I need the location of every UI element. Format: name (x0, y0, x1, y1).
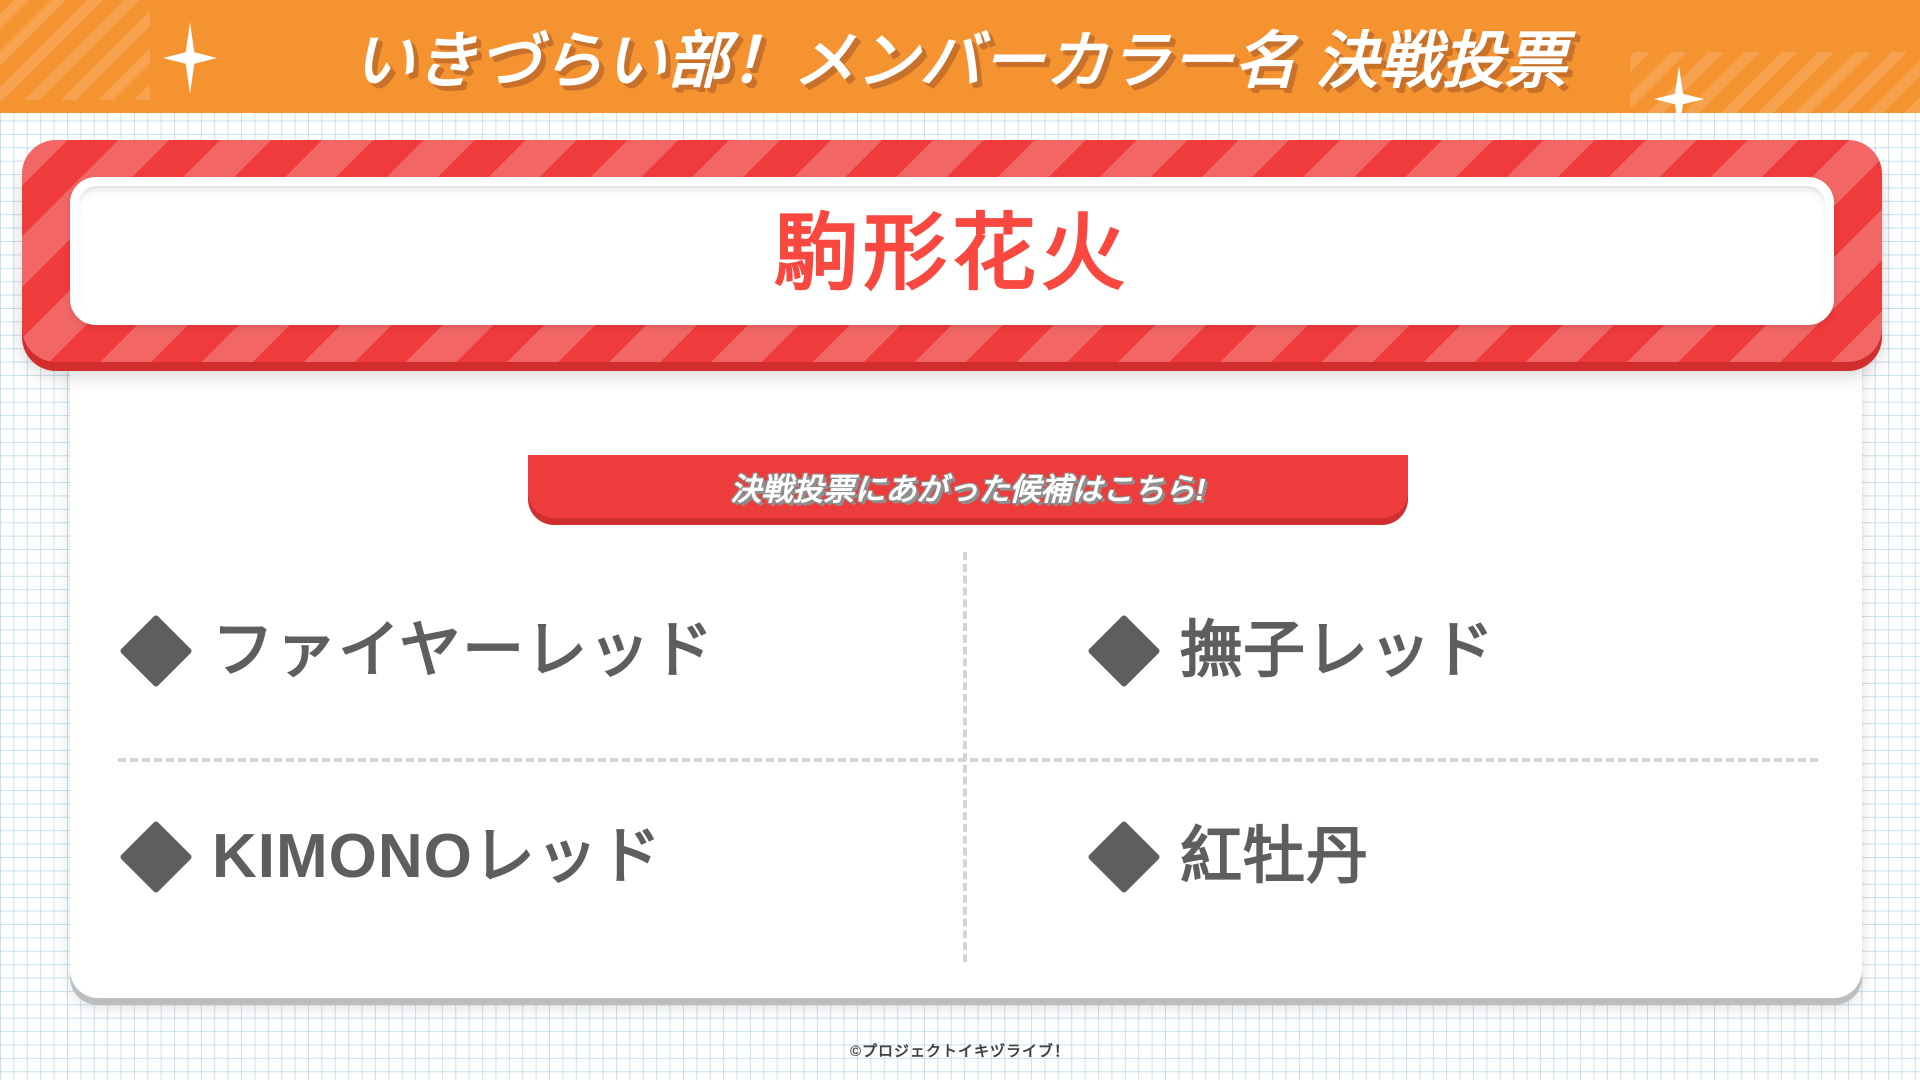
candidate-item-1[interactable]: ファイヤーレッド (118, 548, 968, 754)
diamond-icon (119, 820, 193, 894)
candidate-grid: ファイヤーレッド 撫子レッド KIMONOレッド 紅牡丹 (118, 548, 1818, 960)
copyright-footer: ©プロジェクトイキヅライブ！ (0, 1040, 1920, 1061)
member-name-plate: 駒形花火 (22, 140, 1882, 362)
candidate-item-2[interactable]: 撫子レッド (968, 548, 1818, 754)
candidate-label: 紅牡丹 (1180, 826, 1369, 888)
slide-root: いきづらい部！メンバーカラー名 決戦投票 ファイヤーレッド 撫子レッド KIMO… (0, 0, 1920, 1080)
candidate-label: 撫子レッド (1180, 620, 1495, 682)
member-name-pill: 駒形花火 (70, 177, 1834, 325)
candidate-label: ファイヤーレッド (212, 620, 714, 682)
page-title: いきづらい部！メンバーカラー名 決戦投票 (352, 10, 1567, 100)
runoff-ribbon-label: 決戦投票にあがった候補はこちら! (730, 464, 1205, 509)
member-name-text: 駒形花火 (774, 211, 1130, 295)
banner-title-wrap: いきづらい部！メンバーカラー名 決戦投票 (0, 0, 1920, 113)
candidate-label: KIMONOレッド (212, 826, 662, 888)
runoff-ribbon: 決戦投票にあがった候補はこちら! (528, 455, 1408, 518)
candidate-item-3[interactable]: KIMONOレッド (118, 754, 968, 960)
divider-vertical (963, 552, 967, 962)
diamond-icon (1087, 614, 1161, 688)
diamond-icon (119, 614, 193, 688)
diamond-icon (1087, 820, 1161, 894)
candidate-item-4[interactable]: 紅牡丹 (968, 754, 1818, 960)
divider-horizontal (118, 758, 1818, 762)
